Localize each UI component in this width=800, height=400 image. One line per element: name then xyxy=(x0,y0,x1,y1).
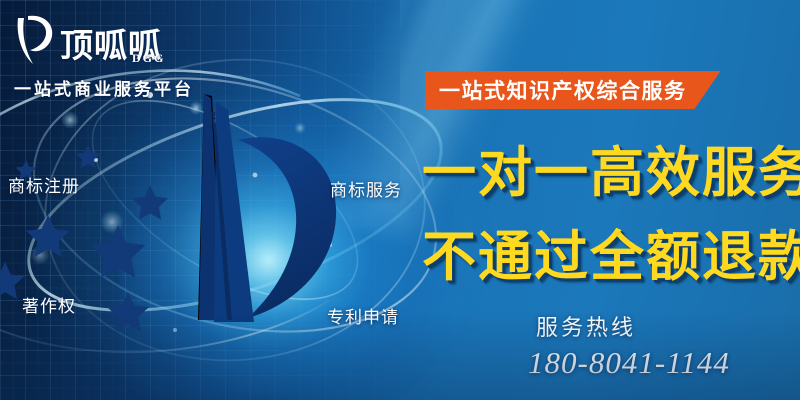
service-label-copyright[interactable]: 著作权 xyxy=(22,292,76,317)
promo-ribbon: 一站式知识产权综合服务 xyxy=(425,71,721,109)
promo-headline-line-2: 不通过全额退款 xyxy=(422,230,800,284)
brand-logo[interactable]: 顶呱呱 DGG 一站式商业服务平台 xyxy=(14,10,234,100)
hotline-number[interactable]: 180-8041-1144 xyxy=(528,345,730,381)
service-label-patent-application[interactable]: 专利申请 xyxy=(327,303,399,328)
service-label-trademark-registration[interactable]: 商标注册 xyxy=(8,172,80,197)
dgg-leaf-logo-icon xyxy=(14,14,56,66)
promotional-banner: 顶呱呱 DGG 一站式商业服务平台 商标注册 商标服务 著作权 专利申请 一站式… xyxy=(0,0,800,400)
logo-latin-abbreviation: DGG xyxy=(132,51,165,66)
hotline-label: 服务热线 xyxy=(536,310,636,342)
logo-tagline: 一站式商业服务平台 xyxy=(14,75,234,100)
service-label-trademark-service[interactable]: 商标服务 xyxy=(330,176,402,201)
promo-headline-line-1: 一对一高效服务 xyxy=(422,146,800,200)
stylized-p-monogram-icon xyxy=(120,82,350,332)
